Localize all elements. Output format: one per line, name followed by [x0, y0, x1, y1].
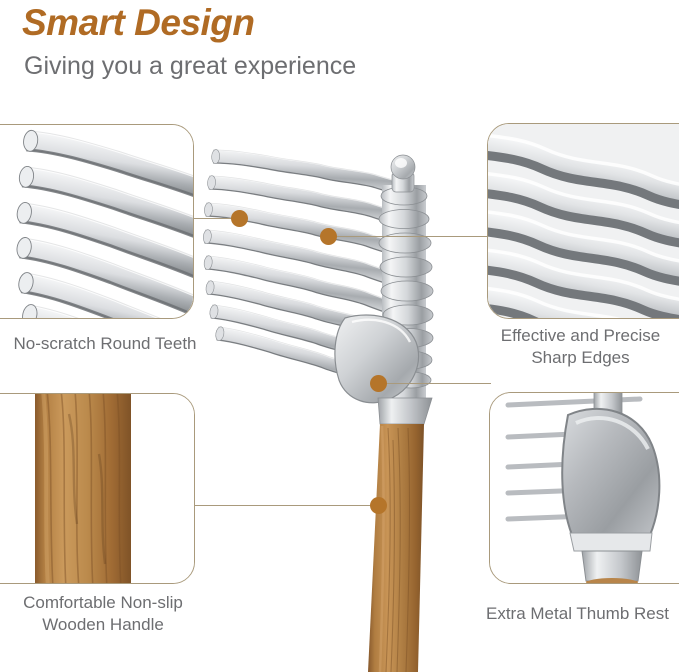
callout-sharp-edges-image	[488, 124, 679, 318]
callout-thumb-rest	[489, 392, 679, 584]
callout-wooden-handle-image	[0, 394, 194, 583]
infographic-page: Smart Design Giving you a great experien…	[0, 0, 679, 672]
caption-thumb-rest: Extra Metal Thumb Rest	[470, 603, 679, 625]
caption-sharp-edges: Effective and Precise Sharp Edges	[478, 325, 679, 369]
connector-line-sharp-edges	[330, 236, 488, 237]
connector-line-thumb-rest	[379, 383, 491, 384]
caption-wooden-handle: Comfortable Non-slip Wooden Handle	[0, 592, 218, 636]
callout-sharp-edges	[487, 123, 679, 319]
caption-round-teeth: No-scratch Round Teeth	[0, 333, 230, 355]
callout-thumb-rest-image	[490, 393, 679, 583]
callout-wooden-handle	[0, 393, 195, 584]
callout-round-teeth	[0, 124, 194, 319]
marker-dot-wooden-handle	[370, 497, 387, 514]
callout-round-teeth-image	[0, 125, 193, 318]
connector-line-wooden-handle	[194, 505, 379, 506]
page-title: Smart Design	[22, 2, 255, 44]
page-subtitle: Giving you a great experience	[24, 52, 356, 81]
marker-dot-thumb-rest	[370, 375, 387, 392]
marker-dot-round-teeth	[231, 210, 248, 227]
marker-dot-sharp-edges	[320, 228, 337, 245]
